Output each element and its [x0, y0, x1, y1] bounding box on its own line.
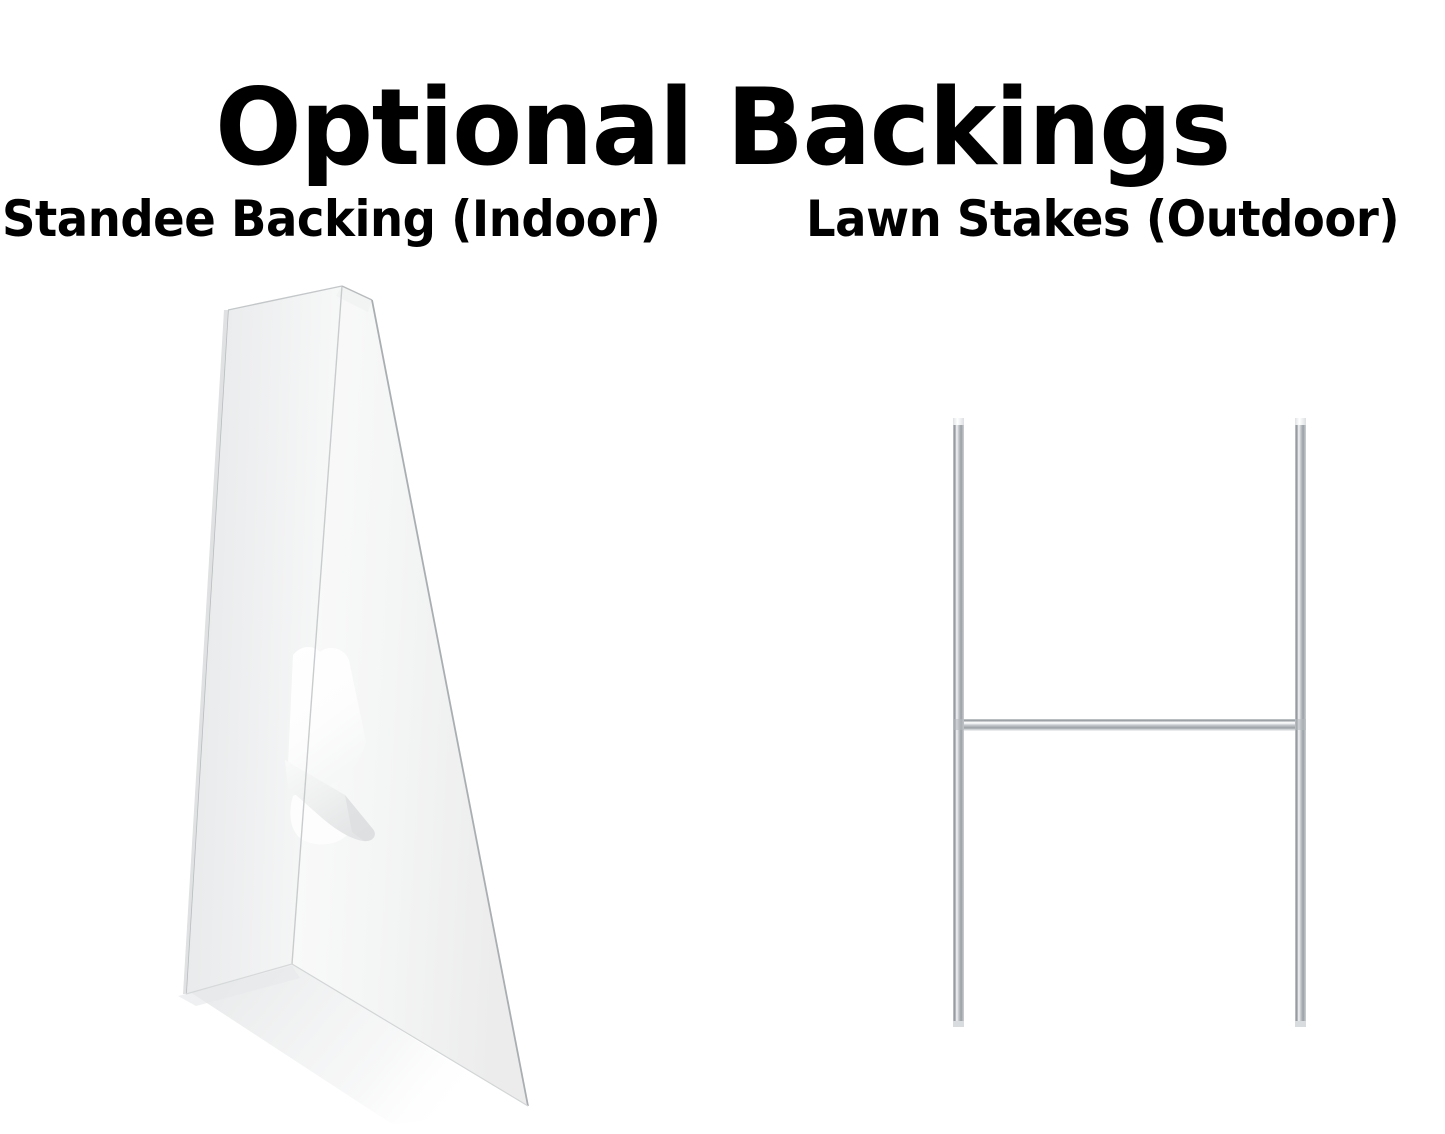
section-heading-standee: Standee Backing (Indoor): [2, 190, 660, 248]
standee-bottom-right-edge-line: [292, 964, 528, 1106]
section-heading-lawn-stakes: Lawn Stakes (Outdoor): [806, 190, 1399, 248]
lawn-stake-right-leg: [1295, 418, 1306, 1026]
standee-bottom-left-edge-line: [186, 964, 292, 994]
standee-shadow: [190, 962, 530, 1124]
lawn-stake-right-leg-tip: [1295, 418, 1306, 425]
lawn-stake-crossbar-shadowline: [957, 729, 1303, 731]
standee-right-panel: [292, 286, 528, 1106]
standee-paper-thickness: [183, 310, 228, 994]
standee-illustration: [178, 286, 530, 1124]
page-title: Optional Backings: [29, 69, 1416, 187]
lawn-stake-crossbar-highlight: [957, 722, 1303, 724]
standee-shadow-soft: [178, 966, 300, 1006]
page-root: Optional Backings Standee Backing (Indoo…: [0, 0, 1445, 1134]
lawn-stake-joint-right: [1295, 719, 1306, 730]
lawn-stake-left-leg: [953, 418, 964, 1026]
standee-support-tab: [285, 760, 375, 841]
lawn-stake-joint-left: [953, 719, 964, 730]
lawn-stake-left-leg-foot: [953, 1021, 964, 1027]
standee-top-right-edge-line: [342, 286, 372, 300]
standee-apex-facet: [336, 286, 372, 312]
standee-right-edge-line: [372, 300, 528, 1106]
lawn-stake-left-leg-tip: [953, 418, 964, 425]
standee-support-tab-edge: [345, 795, 375, 841]
standee-fold-line: [292, 286, 342, 964]
standee-top-left-edge-line: [228, 286, 342, 310]
lawn-stake-crossbar: [955, 719, 1305, 730]
standee-cutout-window: [288, 647, 366, 790]
lawn-stake-illustration: [953, 418, 1306, 1027]
lawn-stake-right-leg-foot: [1295, 1021, 1306, 1027]
standee-left-edge-line: [186, 310, 228, 994]
standee-left-panel: [186, 286, 342, 994]
standee-cutout-lower: [290, 793, 349, 844]
